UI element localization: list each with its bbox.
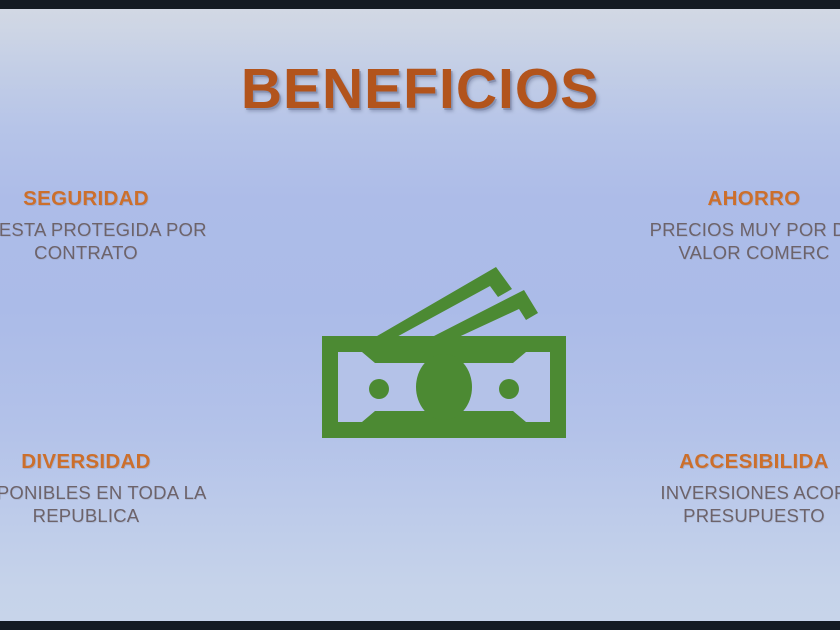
- benefit-heading-seguridad: SEGURIDAD: [0, 187, 246, 211]
- slide-container: BENEFICIOS SEGURIDAD ON ESTA PROTEGIDA P…: [0, 0, 840, 630]
- benefit-body-line: PRECIOS MUY POR DE: [594, 218, 840, 242]
- benefit-body-line: VALOR COMERC: [594, 241, 840, 265]
- letterbox-bar-top: [0, 0, 840, 9]
- benefit-body-accesibilidad: INVERSIONES ACOR PRESUPUESTO: [594, 481, 840, 528]
- benefit-body-ahorro: PRECIOS MUY POR DE VALOR COMERC: [594, 218, 840, 265]
- slide-canvas: BENEFICIOS SEGURIDAD ON ESTA PROTEGIDA P…: [0, 9, 840, 621]
- benefit-block-diversidad: DIVERSIDAD DISPONIBLES EN TODA LA REPUBL…: [0, 450, 246, 528]
- benefit-block-accesibilidad: ACCESIBILIDA INVERSIONES ACOR PRESUPUEST…: [594, 450, 840, 528]
- money-center-oval: [416, 354, 472, 420]
- benefit-heading-diversidad: DIVERSIDAD: [0, 450, 246, 474]
- page-title: BENEFICIOS: [0, 61, 840, 118]
- benefit-heading-accesibilidad: ACCESIBILIDA: [594, 450, 840, 474]
- benefit-body-line: DISPONIBLES EN TODA LA: [0, 481, 246, 505]
- benefit-body-seguridad: ON ESTA PROTEGIDA POR CONTRATO: [0, 218, 246, 265]
- benefit-body-line: INVERSIONES ACOR: [594, 481, 840, 505]
- money-left-dot: [369, 379, 389, 399]
- benefit-body-line: ON ESTA PROTEGIDA POR: [0, 218, 246, 242]
- benefit-body-diversidad: DISPONIBLES EN TODA LA REPUBLICA: [0, 481, 246, 528]
- money-banknote-icon: [300, 256, 580, 446]
- benefit-body-line: REPUBLICA: [0, 504, 246, 528]
- benefit-heading-ahorro: AHORRO: [594, 187, 840, 211]
- benefit-block-seguridad: SEGURIDAD ON ESTA PROTEGIDA POR CONTRATO: [0, 187, 246, 265]
- benefit-body-line: PRESUPUESTO: [594, 504, 840, 528]
- letterbox-bar-bottom: [0, 621, 840, 630]
- money-right-dot: [499, 379, 519, 399]
- benefit-body-line: CONTRATO: [0, 241, 246, 265]
- benefit-block-ahorro: AHORRO PRECIOS MUY POR DE VALOR COMERC: [594, 187, 840, 265]
